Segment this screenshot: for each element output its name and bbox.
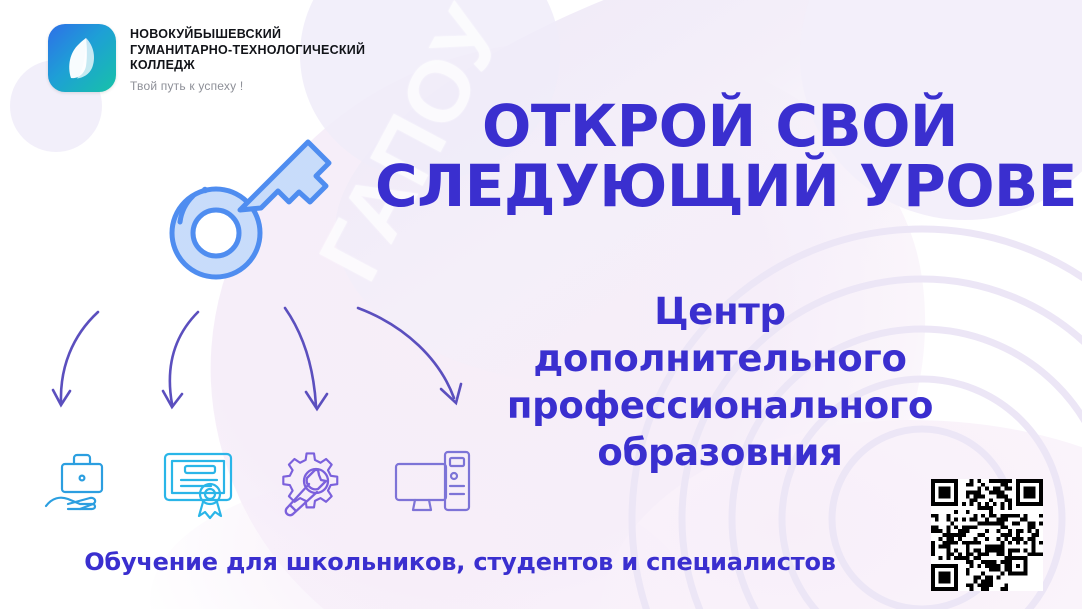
headline-line-1: ОТКРОЙ СВОЙ (375, 96, 1065, 156)
arrow-group (20, 290, 500, 430)
subtitle-line-2: дополнительного (470, 335, 970, 382)
subtitle-line-4: образовния (470, 429, 970, 476)
arrow-1 (61, 312, 98, 402)
headline-line-2: СЛЕДУЮЩИЙ УРОВЕНЬ (375, 156, 1065, 216)
gear-wrench-icon (257, 438, 375, 530)
logo-tagline: Твой путь к успеху ! (130, 79, 365, 93)
arrow-2 (170, 312, 198, 404)
subtitle-line-1: Центр (470, 288, 970, 335)
subtitle-line-3: профессионального (470, 382, 970, 429)
logo-line-2: ГУМАНИТАРНО-ТЕХНОЛОГИЧЕСКИЙ (130, 43, 365, 59)
footer-tagline: Обучение для школьников, студентов и спе… (0, 548, 920, 576)
logo-line-3: КОЛЛЕДЖ (130, 58, 365, 74)
key-icon (158, 118, 373, 288)
page-title: ОТКРОЙ СВОЙ СЛЕДУЮЩИЙ УРОВЕНЬ (375, 96, 1065, 216)
logo-text-block: НОВОКУЙБЫШЕВСКИЙ ГУМАНИТАРНО-ТЕХНОЛОГИЧЕ… (130, 24, 365, 93)
poster-canvas: ГАПОУ КОЛЛЕДЖ НОВОКУЙБЫШЕВСКИЙ ГУМАНИТАР… (0, 0, 1082, 609)
arrow-3 (285, 308, 316, 406)
college-logo: НОВОКУЙБЫШЕВСКИЙ ГУМАНИТАРНО-ТЕХНОЛОГИЧЕ… (48, 24, 365, 93)
arrow-4 (358, 308, 454, 398)
certificate-icon (140, 438, 258, 530)
leaf-logo-icon (48, 24, 116, 92)
logo-line-1: НОВОКУЙБЫШЕВСКИЙ (130, 27, 365, 43)
subtitle: Центр дополнительного профессионального … (470, 288, 970, 476)
benefit-icon-row (22, 438, 492, 530)
hand-briefcase-icon (22, 438, 140, 530)
qr-code[interactable] (931, 479, 1043, 591)
